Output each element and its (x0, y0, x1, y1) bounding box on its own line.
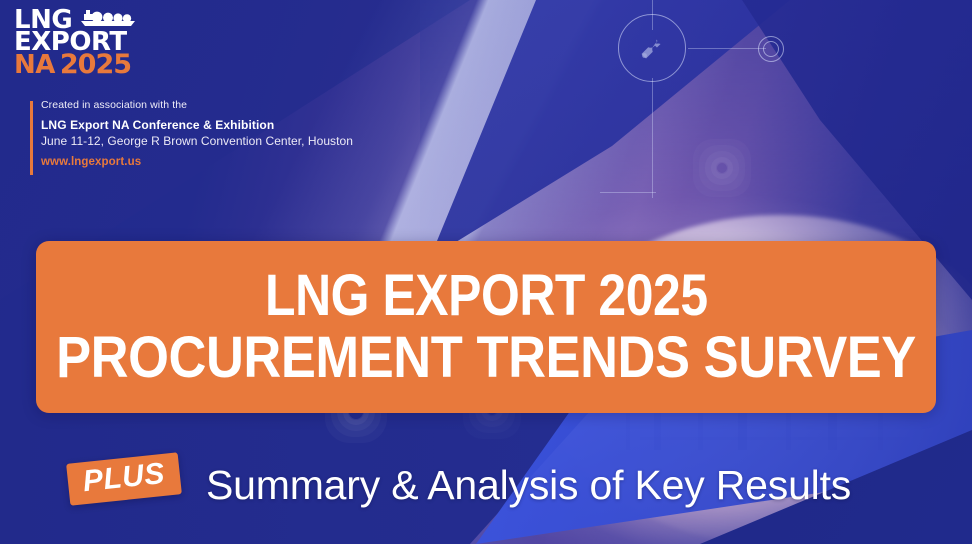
network-node-graphic (600, 0, 830, 150)
association-venue: June 11-12, George R Brown Convention Ce… (41, 134, 360, 148)
poster-canvas: LNG EXPORT NA 2025 Created in associatio… (0, 0, 972, 544)
node-line-down (652, 78, 653, 198)
association-accent-bar (30, 101, 33, 175)
footer-subtitle: Summary & Analysis of Key Results (206, 462, 851, 509)
lng-carrier-ship-icon (79, 8, 137, 28)
wrench-icon (634, 30, 670, 66)
association-url[interactable]: www.lngexport.us (41, 156, 360, 168)
association-prefix: Created in association with the (41, 99, 360, 111)
lng-export-na-logo: LNG EXPORT NA 2025 (14, 8, 174, 92)
logo-export-text: EXPORT (14, 31, 127, 53)
title-line-one: LNG EXPORT 2025 (265, 266, 708, 326)
logo-line-two: EXPORT (14, 31, 174, 53)
node-line-left (600, 192, 656, 193)
title-line-two: PROCUREMENT TRENDS SURVEY (56, 328, 916, 388)
node-line-right (688, 48, 766, 49)
association-event-name: LNG Export NA Conference & Exhibition (41, 118, 360, 132)
association-block: Created in association with the LNG Expo… (30, 99, 360, 168)
concentric-rings-watermark-2 (716, 162, 728, 174)
node-circle-inner (763, 41, 779, 57)
logo-na-text: NA (14, 54, 55, 76)
title-banner: LNG EXPORT 2025 PROCUREMENT TRENDS SURVE… (36, 241, 936, 413)
